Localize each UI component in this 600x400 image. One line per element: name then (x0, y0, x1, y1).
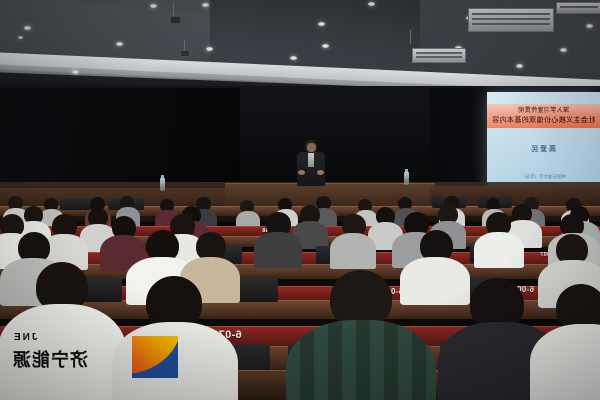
recessed-downlight (586, 24, 593, 28)
watermark-english: JNE (12, 332, 128, 343)
water-bottle (160, 178, 165, 191)
recessed-downlight (290, 56, 297, 60)
recessed-downlight (206, 47, 213, 51)
water-bottle (404, 172, 409, 185)
presenter-hand (317, 170, 324, 175)
recessed-downlight (516, 64, 523, 68)
recessed-downlight (116, 42, 123, 46)
ceiling-hanger-rod (410, 30, 411, 44)
ceiling-speaker (170, 16, 181, 24)
person-torso (400, 257, 470, 305)
recessed-downlight (560, 48, 567, 52)
ceiling-speaker (180, 50, 190, 57)
presenter-hand (298, 170, 305, 175)
person-torso (330, 233, 376, 269)
watermark-chinese: 济宁能源 (12, 346, 128, 372)
jne-sunrise-logo (132, 336, 178, 378)
recessed-downlight (72, 70, 79, 74)
recessed-downlight (368, 2, 375, 6)
person-torso (254, 232, 302, 268)
presenter-standing (294, 140, 328, 186)
recessed-downlight (322, 44, 329, 48)
recessed-downlight (202, 3, 209, 7)
recessed-downlight (24, 26, 31, 30)
recessed-downlight (18, 36, 23, 39)
person-torso (474, 232, 524, 268)
person-torso (286, 320, 436, 400)
air-conditioning-vent (468, 8, 554, 32)
watermark: JNE 济宁能源 (6, 330, 182, 386)
air-conditioning-vent (412, 48, 466, 63)
presenter-face (307, 143, 316, 152)
air-conditioning-vent (556, 2, 600, 14)
presenter-shirt (308, 153, 314, 167)
ceiling (0, 0, 600, 92)
recessed-downlight (150, 4, 157, 8)
logo-arc-shape (132, 336, 178, 374)
recessed-downlight (318, 22, 325, 26)
auditorium-photo: 深入学习宣传贯彻 社会主义核心价值观的基本内容 高 爱 民 中国石油大学（华东）… (0, 0, 600, 400)
